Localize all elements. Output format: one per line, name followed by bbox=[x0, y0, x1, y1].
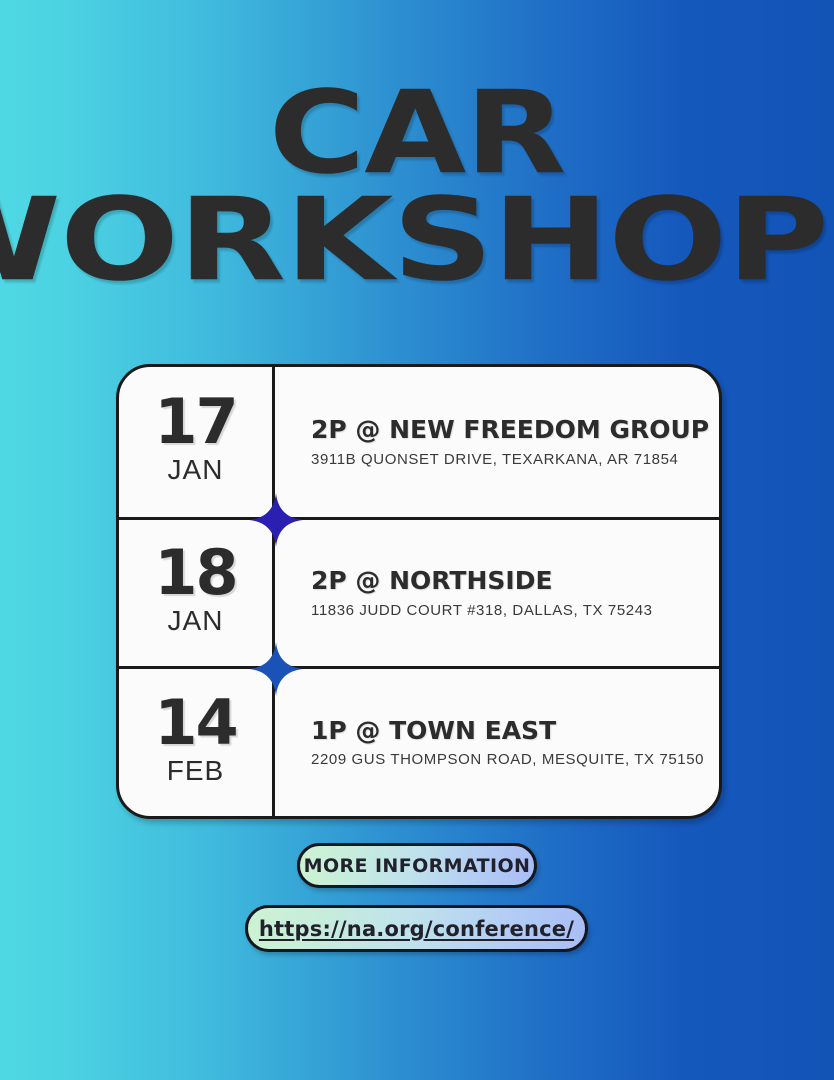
event-day: 17 bbox=[154, 393, 236, 450]
title-line-workshops: WORKSHOPS bbox=[0, 190, 834, 291]
page-title: CAR WORKSHOPS bbox=[0, 86, 834, 288]
conference-url-label: https://na.org/conference/ bbox=[259, 917, 574, 941]
schedule-row: 18 JAN 2P @ NORTHSIDE 11836 JUDD COURT #… bbox=[119, 517, 719, 667]
event-address: 3911B QUONSET DRIVE, TEXARKANA, AR 71854 bbox=[311, 451, 709, 468]
date-cell: 14 FEB bbox=[119, 669, 275, 816]
event-day: 14 bbox=[154, 694, 236, 751]
event-address: 11836 JUDD COURT #318, DALLAS, TX 75243 bbox=[311, 602, 701, 619]
schedule-row: 14 FEB 1P @ TOWN EAST 2209 GUS THOMPSON … bbox=[119, 666, 719, 816]
event-info-cell: 1P @ TOWN EAST 2209 GUS THOMPSON ROAD, M… bbox=[275, 669, 722, 816]
date-cell: 17 JAN bbox=[119, 367, 275, 517]
schedule-card: 17 JAN 2P @ NEW FREEDOM GROUP 3911B QUON… bbox=[116, 364, 722, 819]
event-title: 2P @ NEW FREEDOM GROUP bbox=[311, 416, 709, 444]
conference-url-link[interactable]: https://na.org/conference/ bbox=[245, 905, 588, 952]
more-information-label: MORE INFORMATION bbox=[304, 855, 531, 877]
event-title: 2P @ NORTHSIDE bbox=[311, 567, 701, 595]
event-info-cell: 2P @ NORTHSIDE 11836 JUDD COURT #318, DA… bbox=[275, 520, 719, 667]
event-month: FEB bbox=[167, 754, 224, 788]
event-month: JAN bbox=[168, 604, 224, 638]
event-title: 1P @ TOWN EAST bbox=[311, 717, 704, 745]
event-month: JAN bbox=[168, 453, 224, 487]
event-address: 2209 GUS THOMPSON ROAD, MESQUITE, TX 751… bbox=[311, 751, 704, 768]
title-line-car: CAR bbox=[0, 83, 834, 184]
date-cell: 18 JAN bbox=[119, 520, 275, 667]
event-day: 18 bbox=[154, 544, 236, 601]
more-information-button[interactable]: MORE INFORMATION bbox=[297, 843, 537, 888]
schedule-row: 17 JAN 2P @ NEW FREEDOM GROUP 3911B QUON… bbox=[119, 367, 719, 517]
event-info-cell: 2P @ NEW FREEDOM GROUP 3911B QUONSET DRI… bbox=[275, 367, 727, 517]
